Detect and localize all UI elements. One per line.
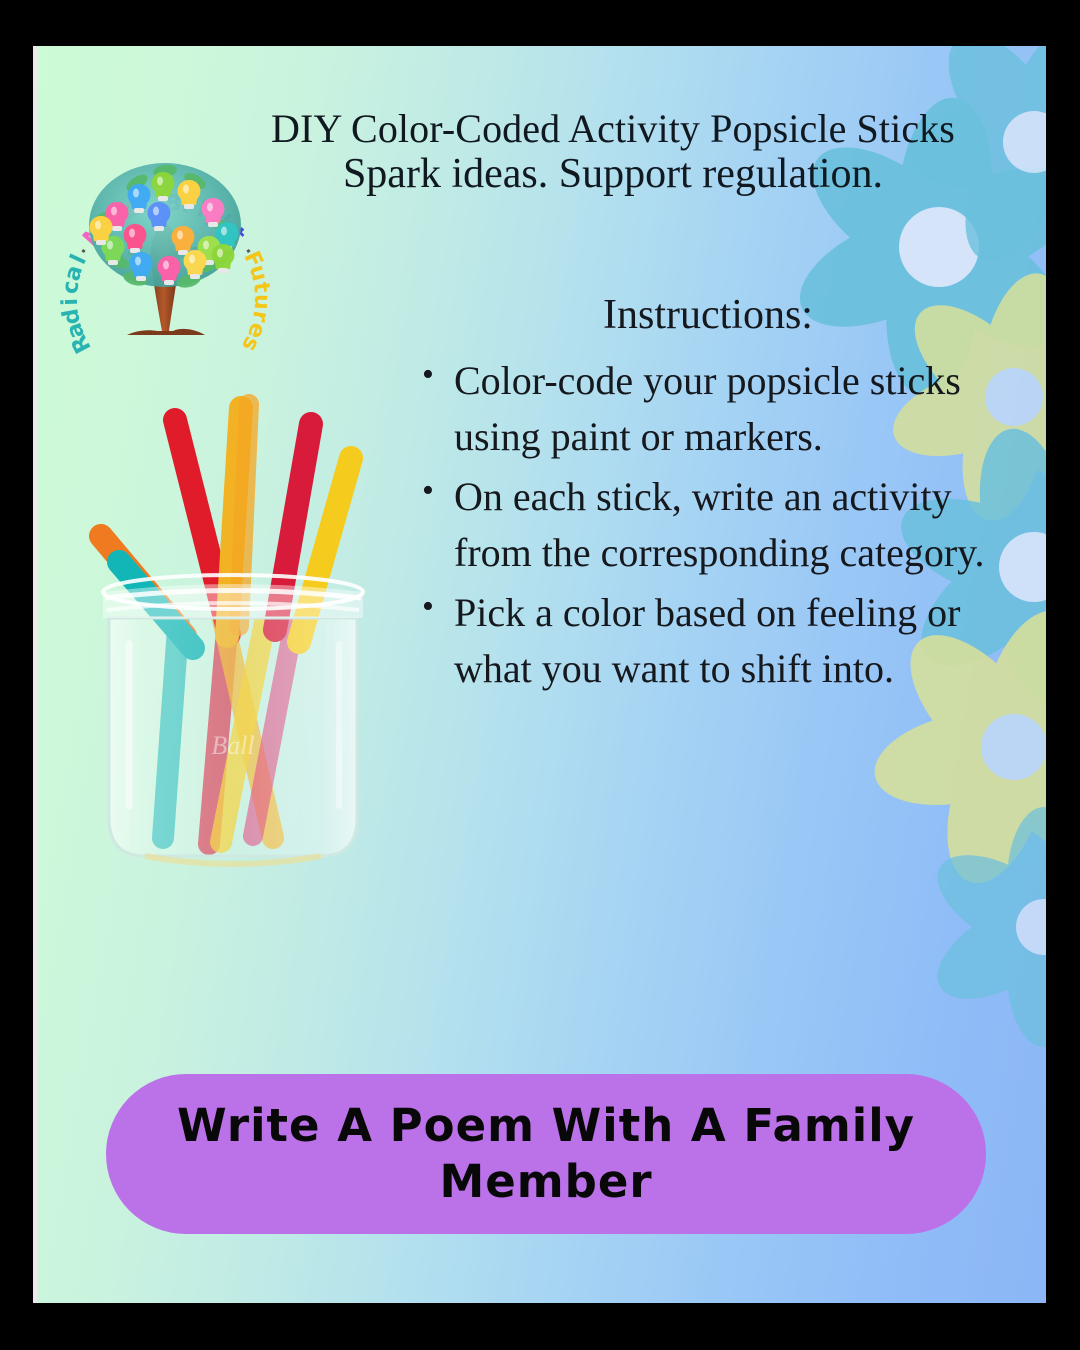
activity-prompt-button[interactable]: Write A Poem With A Family Member xyxy=(106,1074,986,1234)
flower-icon xyxy=(1013,396,1015,398)
activity-prompt-label: Write A Poem With A Family Member xyxy=(106,1098,986,1211)
mason-jar-with-colored-popsicle-sticks: Ball xyxy=(63,386,403,896)
flower-icon xyxy=(1013,746,1015,748)
flower-center xyxy=(981,714,1046,780)
instruction-item: On each stick, write an activity from th… xyxy=(408,469,1008,581)
instructions-title: Instructions: xyxy=(408,291,1008,339)
flower-icon xyxy=(938,246,940,248)
svg-text:Ball: Ball xyxy=(211,731,254,760)
instruction-item: Color-code your popsicle sticks using pa… xyxy=(408,353,1008,465)
poster-canvas: Radical·Minds·Bright·Futures xyxy=(33,46,1046,1303)
instructions-list: Color-code your popsicle sticks using pa… xyxy=(408,353,1008,697)
headline-line-1: DIY Color-Coded Activity Popsicle Sticks xyxy=(233,106,993,151)
flower-icon xyxy=(1033,141,1035,143)
left-edge-strip xyxy=(33,46,38,1303)
flower-icon xyxy=(1033,566,1035,568)
flower-icon xyxy=(1043,926,1045,928)
headline-line-2: Spark ideas. Support regulation. xyxy=(233,151,993,198)
tree-with-lightbulbs-icon xyxy=(77,153,255,336)
instructions-block: Instructions: Color-code your popsicle s… xyxy=(408,291,1008,701)
page-title: DIY Color-Coded Activity Popsicle Sticks… xyxy=(233,106,993,199)
instruction-item: Pick a color based on feeling or what yo… xyxy=(408,585,1008,697)
